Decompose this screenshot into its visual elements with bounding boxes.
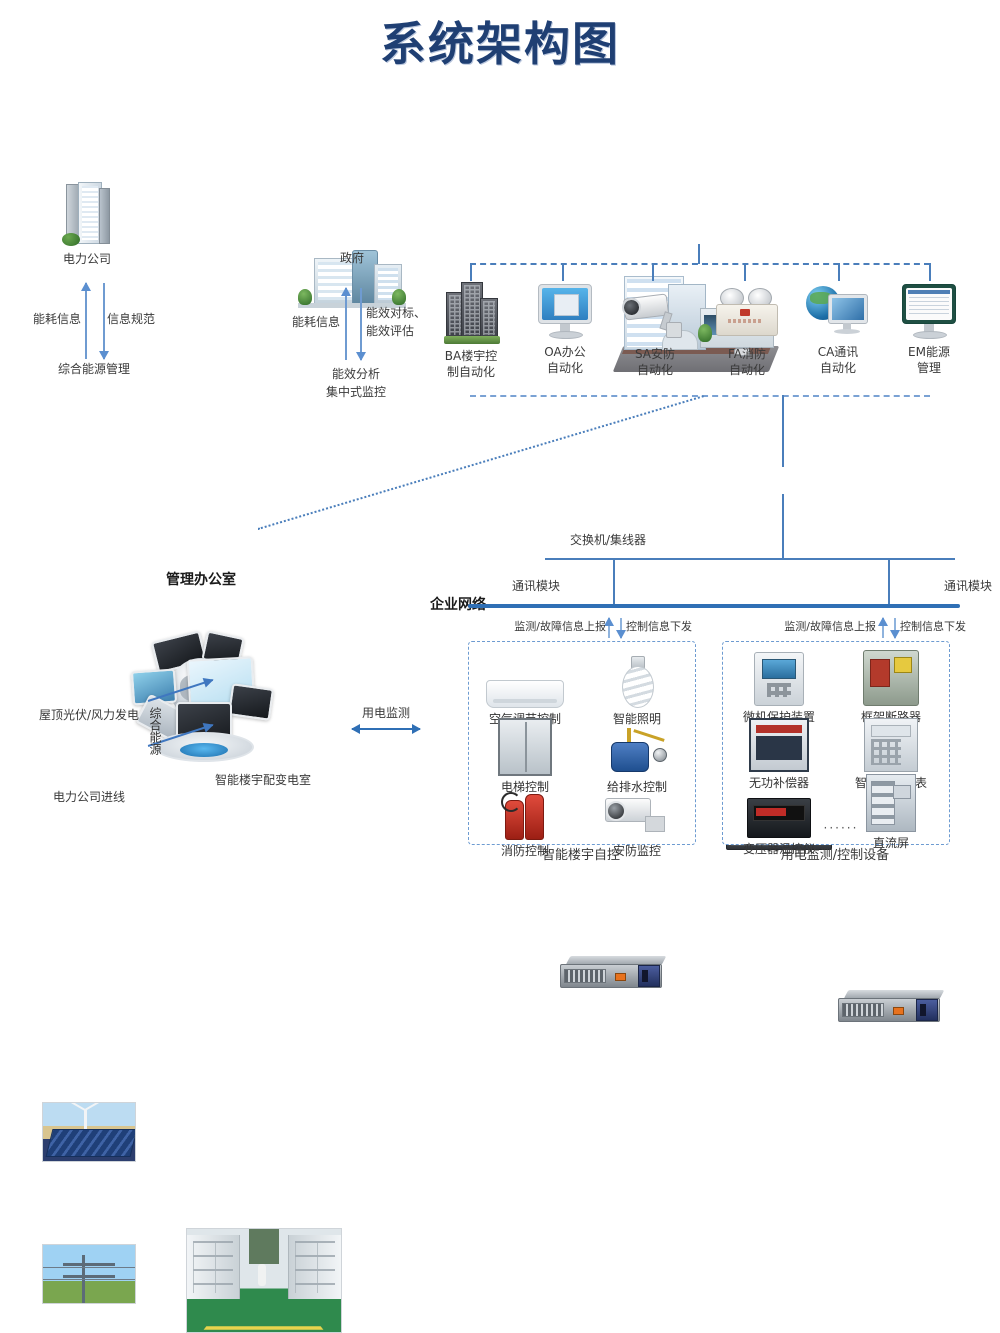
device-air-conditioner[interactable]: 空气调节控制 (471, 650, 579, 727)
water-valve-icon (605, 724, 669, 776)
power-up-arrow (85, 283, 87, 359)
fire-extinguisher-icon (497, 786, 553, 840)
energy-monitor-icon (900, 284, 958, 340)
device-smart-lighting[interactable]: 智能照明 (583, 650, 691, 727)
automation-drop-1 (470, 263, 472, 281)
automation-item-sa[interactable]: SA安防 自动化 (622, 288, 688, 378)
automation-drop-2 (562, 263, 564, 281)
automation-drop-4 (744, 263, 746, 281)
switch-downlink-line (782, 494, 784, 559)
automation-label-sa-1: SA安防 (622, 346, 688, 362)
cfl-bulb-icon (620, 656, 654, 708)
elevator-icon (498, 718, 552, 776)
dc-panel-icon (866, 774, 916, 832)
comm-module-right-icon (838, 990, 948, 1024)
substation-photo (186, 1228, 342, 1333)
solar-wind-label: 屋顶光伏/风力发电 (20, 707, 158, 723)
air-conditioner-icon (486, 680, 564, 708)
highrise-building-icon (444, 282, 500, 344)
comm-drop-right (888, 558, 890, 606)
cctv-camera-icon (622, 288, 688, 340)
power-down-arrow (103, 283, 105, 359)
automation-label-oa-1: OA办公 (536, 344, 594, 360)
architecture-diagram: 系统架构图 电力公司 能耗信息 信息规范 综合能源管理 政府 能耗信息 能效对标… (0, 0, 1000, 889)
government-label: 政府 (292, 250, 412, 266)
automation-label-sa-2: 自动化 (622, 362, 688, 378)
automation-item-ba[interactable]: BA楼宇控 制自动化 (444, 282, 498, 380)
protection-relay-icon (754, 652, 804, 706)
solar-wind-photo (42, 1102, 136, 1162)
gov-up-arrow-label: 能耗信息 (276, 314, 340, 330)
gov-down-arrow-label-2: 能效评估 (366, 323, 444, 339)
enterprise-network-bar (468, 604, 960, 608)
power-monitoring-box: 微机保护装置 框架断路器 无功补偿器 智能测控仪表 变压器温控仪 直流屏 ···… (722, 641, 950, 845)
gov-up-arrow (345, 288, 347, 360)
automation-label-fa-2: 自动化 (714, 362, 780, 378)
automation-item-oa[interactable]: OA办公 自动化 (536, 284, 594, 376)
management-office-label: 管理办公室 (131, 572, 271, 588)
computer-monitor-icon (536, 284, 594, 340)
power-company-label: 电力公司 (27, 251, 147, 267)
comm-module-left-icon (560, 956, 670, 990)
switch-uplink-line (782, 395, 784, 467)
flow-up-arrow-left (608, 618, 610, 638)
automation-label-ca-2: 自动化 (806, 360, 870, 376)
automation-bus-line (470, 263, 930, 265)
power-down-arrow-label: 信息规范 (107, 311, 179, 327)
building-stem-line (698, 244, 700, 264)
switch-label: 交换机/集线器 (528, 532, 688, 548)
comm-module-left-label: 通讯模块 (484, 578, 560, 594)
transformer-temp-controller-icon (747, 798, 811, 838)
power-monitoring-arrow-label: 用电监测 (350, 705, 422, 721)
flow-down-arrow-left (620, 618, 622, 638)
power-monitoring-caption: 用电监测/控制设备 (735, 848, 935, 864)
automation-drop-5 (838, 263, 840, 281)
flow-up-arrow-right (882, 618, 884, 638)
automation-item-em[interactable]: EM能源 管理 (900, 284, 958, 376)
globe-monitor-icon (806, 284, 870, 340)
power-company-icon (64, 182, 110, 244)
grid-incoming-photo (42, 1244, 136, 1304)
device-dc-panel[interactable]: 直流屏 (837, 774, 945, 851)
automation-label-em-2: 管理 (900, 360, 958, 376)
page-title: 系统架构图 (0, 8, 1000, 74)
office-to-automation-link (258, 395, 704, 530)
centralized-monitoring-label: 集中式监控 (300, 384, 412, 400)
flow-down-label-right: 控制信息下发 (900, 619, 1000, 635)
gov-down-arrow (360, 288, 362, 360)
automation-drop-6 (929, 263, 931, 281)
flow-down-label-left: 控制信息下发 (626, 619, 726, 635)
automation-label-ba-1: BA楼宇控 (444, 348, 498, 364)
automation-label-ba-2: 制自动化 (444, 364, 498, 380)
grid-incoming-label: 电力公司进线 (23, 789, 155, 805)
security-camera-icon (605, 792, 669, 840)
automation-drop-3 (652, 263, 654, 281)
device-transformer-temp-controller[interactable]: 变压器温控仪 (725, 780, 833, 857)
flow-up-label-left: 监测/故障信息上报 (476, 619, 606, 635)
comm-drop-left (613, 558, 615, 606)
emergency-light-icon (714, 288, 780, 340)
automation-label-ca-1: CA通讯 (806, 344, 870, 360)
power-up-arrow-label: 能耗信息 (19, 311, 81, 327)
flow-up-label-right: 监测/故障信息上报 (742, 619, 876, 635)
building-automation-box: 空气调节控制 智能照明 电梯控制 给排水控制 消防控制 安防监控 (468, 641, 696, 845)
air-circuit-breaker-icon (863, 650, 919, 706)
power-monitoring-biarrow (352, 728, 420, 730)
more-devices-ellipsis: ······ (811, 820, 871, 836)
reactive-compensator-icon (749, 718, 809, 772)
automation-label-oa-2: 自动化 (536, 360, 594, 376)
gov-down-arrow-label-1: 能效对标、 (366, 305, 444, 321)
automation-label-em-1: EM能源 (900, 344, 958, 360)
flow-down-arrow-right (894, 618, 896, 638)
efficiency-analysis-label: 能效分析 (300, 366, 412, 382)
integrated-energy-management-label: 综合能源管理 (24, 361, 164, 377)
automation-label-fa-1: FA消防 (714, 346, 780, 362)
building-automation-caption: 智能楼宇自控 (481, 848, 681, 864)
smart-meter-icon (864, 718, 918, 772)
integrated-energy-arrow-label: 综合能源 (147, 707, 163, 755)
substation-label: 智能楼宇配变电室 (186, 772, 340, 788)
automation-item-fa[interactable]: FA消防 自动化 (714, 288, 780, 378)
automation-item-ca[interactable]: CA通讯 自动化 (806, 284, 870, 376)
comm-bus-line (545, 558, 955, 560)
comm-module-right-label: 通讯模块 (944, 578, 1000, 594)
